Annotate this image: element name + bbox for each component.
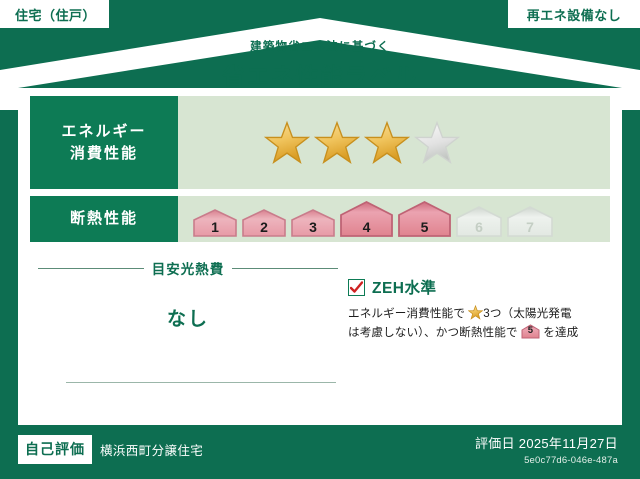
title-subtitle: 建築物省エネ法に基づく (0, 38, 640, 54)
evaluation-meta: 評価日 2025年11月27日 5e0c77d6-046e-487a (475, 433, 618, 466)
zeh-desc-part2: は考慮しない）、かつ断熱性能で (348, 326, 518, 339)
insulation-grade-scale: 1 2 3 (192, 200, 554, 238)
row-insulation-label: 断熱性能 (30, 196, 178, 242)
grade-house-5-label: 5 (397, 219, 452, 235)
lower-section: 目安光熱費 なし ZEH水準 エネルギー消費性能で (30, 258, 610, 416)
grade-house-3-label: 3 (290, 219, 336, 235)
zeh-desc-star-count: 3つ（太陽光発電 (483, 307, 571, 320)
grade-house-4-label: 4 (339, 219, 394, 235)
grade-house-4: 4 (339, 200, 394, 238)
grade-house-7-label: 7 (506, 219, 554, 235)
self-evaluation-group: 自己評価 横浜西町分譲住宅 (18, 435, 203, 464)
row-energy-value (178, 96, 610, 189)
grade-badge-inline-label: 5 (521, 323, 540, 338)
tag-renewable-energy-label: 再エネ設備なし (527, 5, 622, 24)
grade-house-1-label: 1 (192, 219, 238, 235)
star-icon-filled-2 (314, 120, 360, 166)
tag-building-type-label: 住宅（住戸） (15, 5, 96, 24)
grade-badge-inline: 5 (521, 324, 540, 339)
tag-building-type: 住宅（住戸） (0, 0, 109, 28)
zeh-desc-part3: を達成 (543, 326, 578, 339)
label-body-card: エネルギー 消費性能 (18, 88, 622, 425)
row-insulation-label-text: 断熱性能 (70, 208, 138, 230)
grade-house-6-label: 6 (455, 219, 503, 235)
grade-house-2-label: 2 (241, 219, 287, 235)
utility-cost-value: なし (38, 304, 338, 331)
zeh-heading: ZEH水準 (348, 276, 610, 298)
star-icon-filled-3 (364, 120, 410, 166)
star-icon-empty-4 (414, 120, 460, 166)
row-insulation-performance: 断熱性能 (30, 196, 610, 242)
utility-cost-heading: 目安光熱費 (38, 258, 338, 278)
grade-house-3: 3 (290, 208, 336, 238)
rule-left (38, 268, 144, 269)
star-icon-filled-1 (264, 120, 310, 166)
utility-cost-block: 目安光熱費 なし (38, 258, 338, 331)
grade-house-2: 2 (241, 208, 287, 238)
row-energy-label-line2: 消費性能 (70, 143, 138, 165)
page-title: 省エネ性能ラベル (0, 57, 640, 91)
row-energy-label-line1: エネルギー (61, 121, 146, 143)
grade-house-6: 6 (455, 205, 503, 238)
evaluation-date: 評価日 2025年11月27日 (475, 433, 618, 452)
evaluation-id: 5e0c77d6-046e-487a (475, 455, 618, 466)
star-rating (264, 120, 460, 166)
zeh-checkbox[interactable] (348, 279, 365, 296)
star-icon-inline (468, 305, 483, 320)
rule-right (232, 268, 338, 269)
performance-section: エネルギー 消費性能 (30, 96, 610, 242)
check-icon (350, 281, 363, 294)
label-footer: 自己評価 横浜西町分譲住宅 評価日 2025年11月27日 5e0c77d6-0… (0, 425, 640, 479)
label-title: 建築物省エネ法に基づく 省エネ性能ラベル (0, 38, 640, 91)
tag-renewable-energy: 再エネ設備なし (508, 0, 640, 28)
row-insulation-value: 1 2 3 (178, 196, 610, 242)
utility-cost-bottom-rule (66, 382, 336, 383)
row-energy-performance: エネルギー 消費性能 (30, 96, 610, 189)
zeh-title: ZEH水準 (372, 276, 437, 298)
grade-house-1: 1 (192, 208, 238, 238)
property-name: 横浜西町分譲住宅 (100, 440, 203, 459)
grade-house-5: 5 (397, 200, 452, 238)
row-energy-label: エネルギー 消費性能 (30, 96, 178, 189)
zeh-description: エネルギー消費性能で 3つ（太陽光発電 は考慮しない）、かつ断熱性能で 5 を達… (348, 305, 610, 343)
energy-performance-label: 住宅（住戸） 再エネ設備なし 建築物省エネ法に基づく 省エネ性能ラベル エネルギ… (0, 0, 640, 479)
zeh-block: ZEH水準 エネルギー消費性能で 3つ（太陽光発電 は考慮しない）、かつ断熱性能… (348, 276, 610, 343)
self-evaluation-badge: 自己評価 (18, 435, 92, 464)
grade-house-7: 7 (506, 205, 554, 238)
zeh-desc-part1: エネルギー消費性能で (348, 307, 465, 320)
utility-cost-heading-text: 目安光熱費 (152, 258, 225, 278)
